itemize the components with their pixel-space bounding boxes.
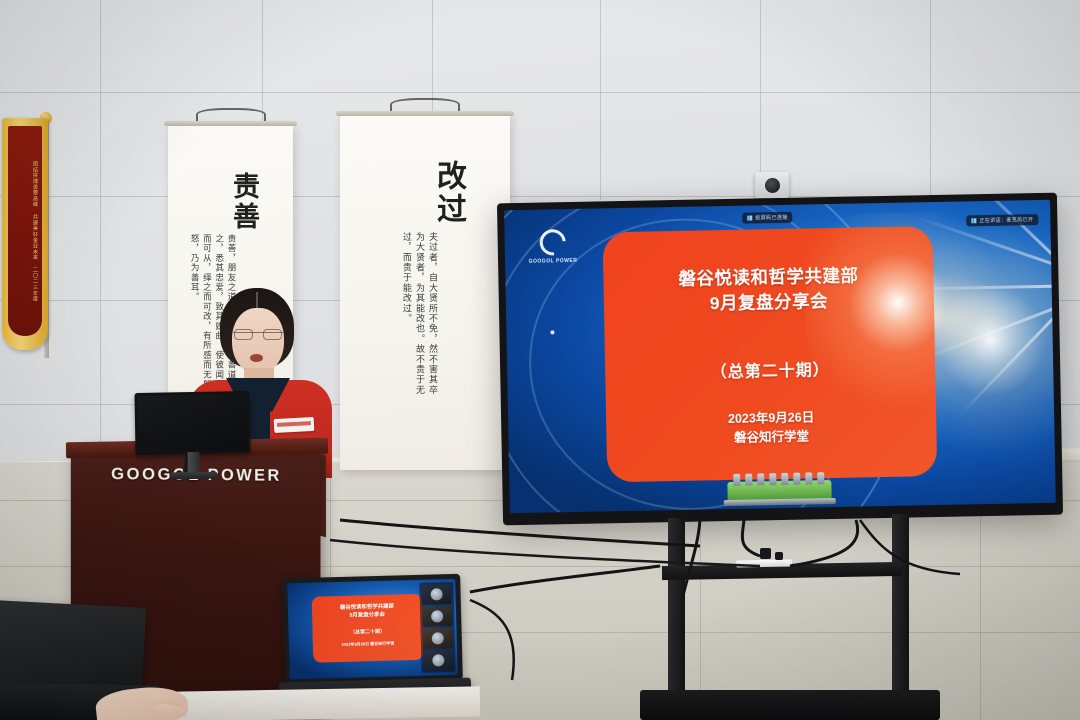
avatar <box>432 632 444 644</box>
display-television[interactable]: GOOGOL POWER 磐谷悦读和哲学共建部 9月复盘分享会 （总第二十期） … <box>497 193 1063 526</box>
slide-generator-image <box>721 472 842 508</box>
laptop-screen[interactable]: 磐谷悦读和哲学共建部 9月复盘分享会 （总第二十期） 2023年9月26日 磐谷… <box>287 579 457 679</box>
slide-logo-text: GOOGOL POWER <box>527 258 579 265</box>
avatar <box>432 654 444 666</box>
tv-stand-base <box>640 690 940 720</box>
scroll-right-body: 夫过者，自大贤所不免，然不害其卒为大贤者，为其能改也。故不贵于无过，而贵于能改过… <box>399 232 438 402</box>
pennant-field: 团结拼搏勇攀高峰 共建美好金业未来 二〇二三年度 <box>8 126 42 336</box>
presenter-name-badge <box>274 417 315 433</box>
signal-icon <box>747 216 752 221</box>
participant-tile[interactable] <box>422 606 453 627</box>
calligraphy-scroll-right: 改过 夫过者，自大贤所不免，然不害其卒为大贤者，为其能改也。故不贵于无过，而贵于… <box>340 114 510 470</box>
conference-room-photo: 团结拼搏勇攀高峰 共建美好金业未来 二〇二三年度 责善 责善，朋友之道，然须忠告… <box>0 0 1080 720</box>
engine-base <box>724 498 836 506</box>
osd-cast-text: 投屏码已连接 <box>755 214 788 222</box>
participant-tile[interactable] <box>423 628 454 649</box>
tv-stand-leg-right <box>892 514 909 694</box>
tv-stand-cable-tray <box>736 560 792 568</box>
video-participant-sidebar[interactable] <box>419 582 455 673</box>
laptop-lid: 磐谷悦读和哲学共建部 9月复盘分享会 （总第二十期） 2023年9月26日 磐谷… <box>282 574 463 685</box>
slide-brand-logo: GOOGOL POWER <box>526 229 579 278</box>
monitor-base <box>169 472 217 480</box>
laptop-slide-issue: （总第二十期） <box>312 627 422 637</box>
avatar <box>431 610 443 622</box>
power-plug <box>775 552 783 560</box>
laptop-slide-title-line1: 磐谷悦读和哲学共建部 <box>340 604 394 611</box>
scroll-rod-top <box>164 121 297 126</box>
podium-monitor-screen[interactable] <box>138 394 248 452</box>
swirl-logo-icon <box>534 224 571 261</box>
power-adapter <box>760 548 771 559</box>
microphone-icon <box>971 218 976 223</box>
laptop-slide-panel: 磐谷悦读和哲学共建部 9月复盘分享会 （总第二十期） 2023年9月26日 磐谷… <box>312 594 424 663</box>
podium-monitor[interactable] <box>134 391 250 455</box>
slide-venue: 磐谷知行学堂 <box>734 429 809 444</box>
osd-speaking-status: 正在讲话：麦克风已开 <box>966 214 1038 226</box>
award-pennant: 团结拼搏勇攀高峰 共建美好金业未来 二〇二三年度 <box>2 118 48 350</box>
slide-glow <box>804 210 1038 414</box>
participant-tile[interactable] <box>421 584 452 605</box>
osd-speaking-text: 正在讲话：麦克风已开 <box>979 216 1033 224</box>
scroll-left-title: 责善 <box>224 172 263 232</box>
foreground-laptop-lid <box>0 600 146 692</box>
participant-tile[interactable] <box>423 650 454 671</box>
laptop-slide-title-line2: 9月复盘分享会 <box>349 612 384 619</box>
osd-cast-status: 投屏码已连接 <box>742 212 793 224</box>
slide-dot <box>550 331 554 335</box>
slide-date: 2023年9月26日 <box>728 410 814 426</box>
tv-bezel: GOOGOL POWER 磐谷悦读和哲学共建部 9月复盘分享会 （总第二十期） … <box>497 193 1063 526</box>
laptop-slide-title: 磐谷悦读和哲学共建部 9月复盘分享会 <box>312 602 422 621</box>
tv-screen[interactable]: GOOGOL POWER 磐谷悦读和哲学共建部 9月复盘分享会 （总第二十期） … <box>504 200 1056 513</box>
conference-camera-icon <box>755 172 789 198</box>
camera-lens-icon <box>765 178 780 193</box>
monitor-stand <box>187 452 199 474</box>
pennant-text: 团结拼搏勇攀高峰 共建美好金业未来 二〇二三年度 <box>12 130 38 332</box>
avatar <box>430 588 442 600</box>
laptop-slide-meta: 2023年9月26日 磐谷知行学堂 <box>313 640 423 649</box>
presenter-mouth <box>250 354 263 362</box>
eyeglasses-icon <box>233 332 283 343</box>
tv-stand-leg-left <box>668 518 685 694</box>
scroll-rod-top <box>336 111 514 116</box>
scroll-right-title: 改过 <box>426 160 470 226</box>
